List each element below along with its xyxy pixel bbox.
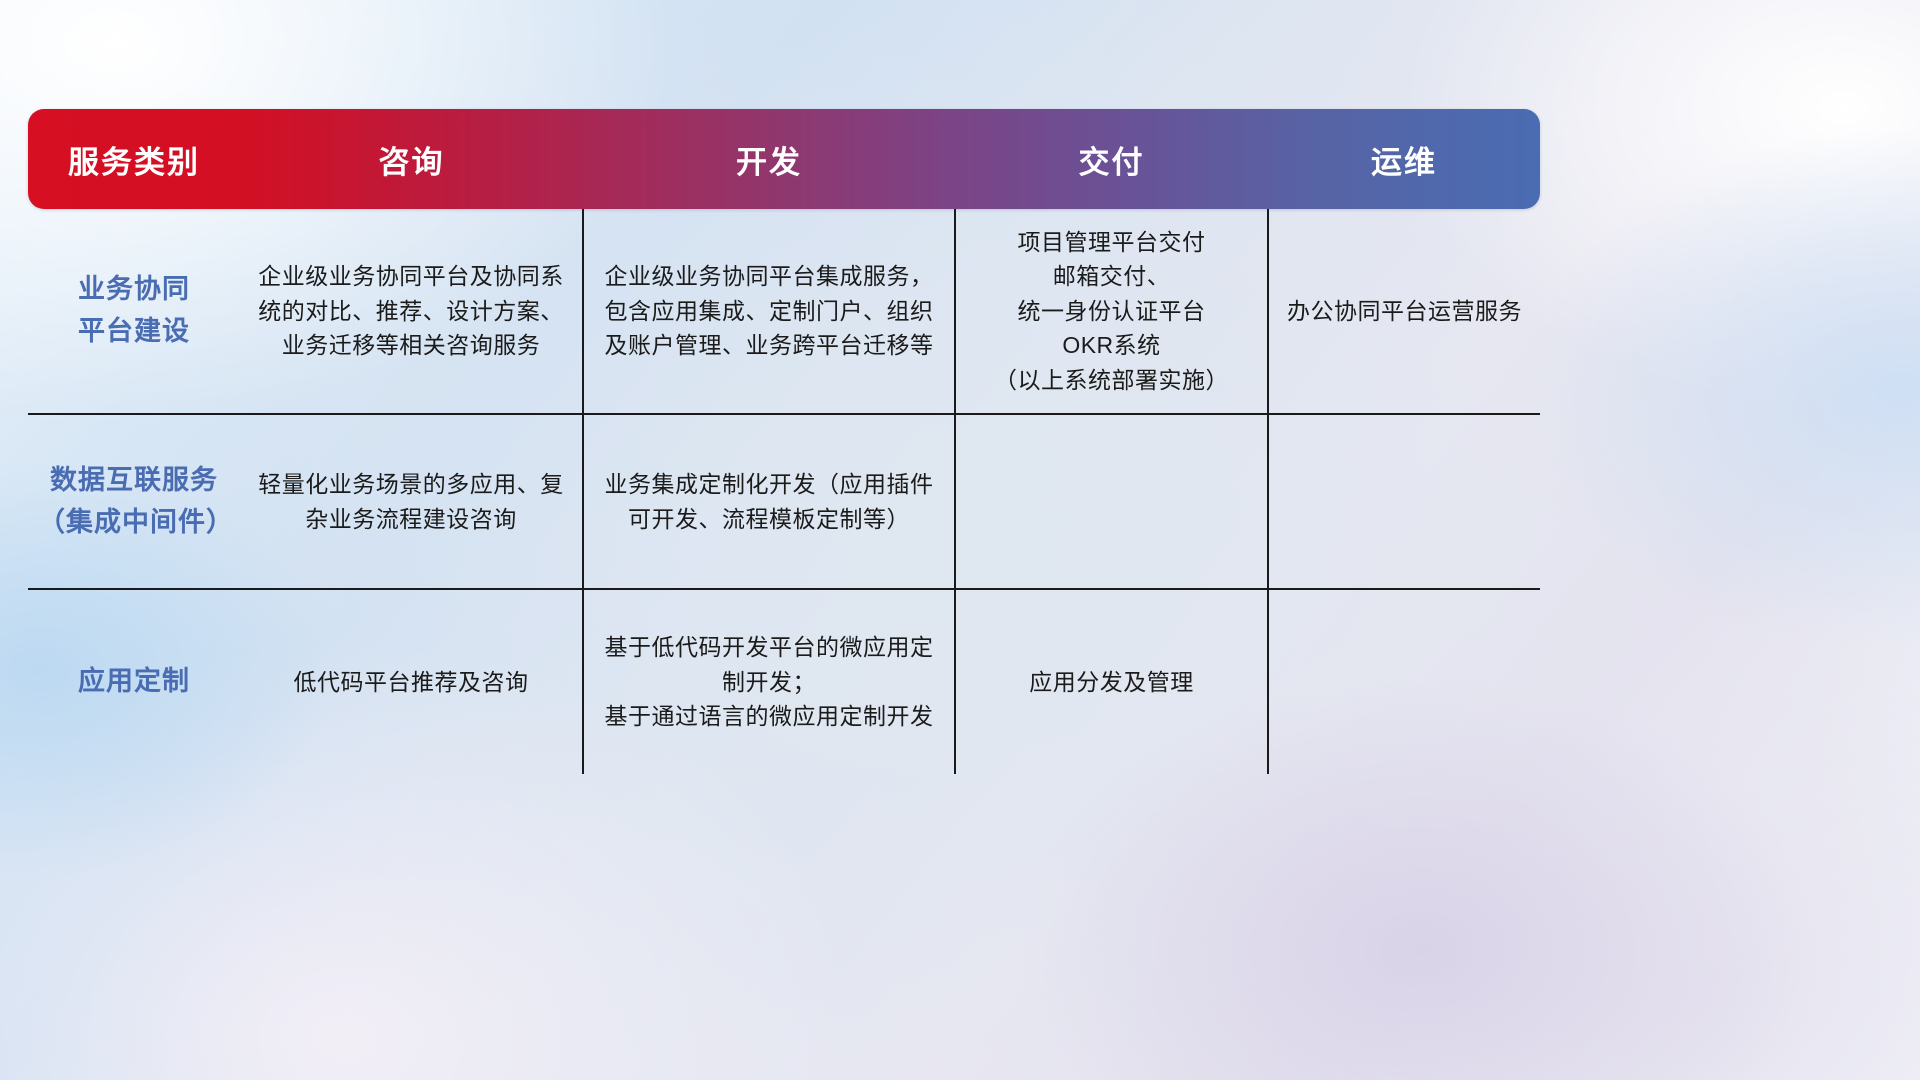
row-category-label: 数据互联服务 （集成中间件） [28,414,240,589]
cell-operations [1268,414,1540,589]
table-row: 业务协同 平台建设 企业级业务协同平台及协同系 统的对比、推荐、设计方案、 业务… [28,209,1540,414]
header-cell-operations[interactable]: 运维 [1268,109,1540,209]
service-matrix: 服务类别 咨询 开发 交付 运维 业务协同 平台建设 企业级业务协同平台及协同系… [28,109,1540,774]
header-row: 服务类别 咨询 开发 交付 运维 [28,109,1540,209]
cell-consulting: 轻量化业务场景的多应用、复 杂业务流程建设咨询 [240,414,583,589]
cell-development: 企业级业务协同平台集成服务， 包含应用集成、定制门户、组织 及账户管理、业务跨平… [583,209,955,414]
cell-consulting: 低代码平台推荐及咨询 [240,589,583,774]
cell-delivery: 项目管理平台交付 邮箱交付、 统一身份认证平台 OKR系统 （以上系统部署实施） [955,209,1268,414]
table-body: 业务协同 平台建设 企业级业务协同平台及协同系 统的对比、推荐、设计方案、 业务… [28,209,1540,774]
table-row: 应用定制 低代码平台推荐及咨询 基于低代码开发平台的微应用定 制开发； 基于通过… [28,589,1540,774]
cell-consulting: 企业级业务协同平台及协同系 统的对比、推荐、设计方案、 业务迁移等相关咨询服务 [240,209,583,414]
header-cell-development[interactable]: 开发 [583,109,955,209]
cell-development: 业务集成定制化开发（应用插件 可开发、流程模板定制等） [583,414,955,589]
table-head: 服务类别 咨询 开发 交付 运维 [28,109,1540,209]
cell-operations [1268,589,1540,774]
cell-operations: 办公协同平台运营服务 [1268,209,1540,414]
row-category-label: 业务协同 平台建设 [28,209,240,414]
row-category-label: 应用定制 [28,589,240,774]
cell-delivery: 应用分发及管理 [955,589,1268,774]
table-row: 数据互联服务 （集成中间件） 轻量化业务场景的多应用、复 杂业务流程建设咨询 业… [28,414,1540,589]
service-matrix-table: 服务类别 咨询 开发 交付 运维 业务协同 平台建设 企业级业务协同平台及协同系… [28,109,1540,774]
cell-development: 基于低代码开发平台的微应用定 制开发； 基于通过语言的微应用定制开发 [583,589,955,774]
header-cell-delivery[interactable]: 交付 [955,109,1268,209]
header-cell-service-category[interactable]: 服务类别 [28,109,240,209]
header-cell-consulting[interactable]: 咨询 [240,109,583,209]
cell-delivery [955,414,1268,589]
